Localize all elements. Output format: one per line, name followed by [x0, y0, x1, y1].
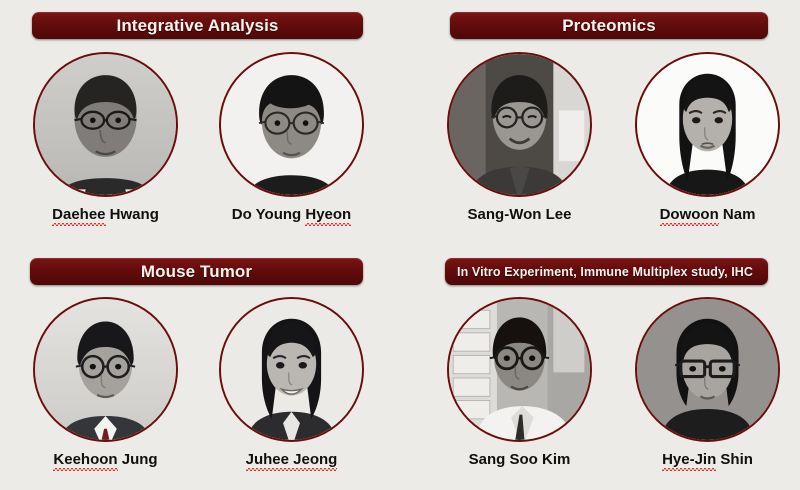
person-card[interactable]: Sang Soo Kim — [447, 297, 592, 468]
group-banner-in-vitro-immune-ihc: In Vitro Experiment, Immune Multiplex st… — [445, 258, 768, 285]
group-proteomics: Proteomics — [418, 0, 800, 245]
person-name-rest: Do Young — [232, 206, 306, 223]
avatar — [33, 297, 178, 442]
photo-daehee-hwang — [35, 54, 176, 195]
person-name: Hye-Jin Shin — [662, 451, 753, 468]
person-name: Sang Soo Kim — [469, 451, 571, 468]
person-name: Sang-Won Lee — [468, 206, 572, 223]
group-integrative-analysis: Integrative Analysis — [0, 0, 400, 245]
person-card[interactable]: Do Young Hyeon — [219, 52, 364, 223]
group-banner-proteomics: Proteomics — [450, 12, 768, 39]
banner-label: Integrative Analysis — [117, 16, 279, 36]
person-name-rest: Sang Soo Kim — [469, 451, 571, 468]
person-name-rest: Jung — [118, 451, 158, 468]
people-row: Keehoon Jung — [0, 297, 433, 468]
person-card[interactable]: Daehee Hwang — [33, 52, 178, 223]
avatar — [447, 52, 592, 197]
banner-label: Mouse Tumor — [141, 262, 252, 282]
avatar — [447, 297, 592, 442]
person-name-flagged: Juhee Jeong — [246, 451, 338, 468]
person-name-rest: Nam — [719, 206, 756, 223]
avatar — [219, 52, 364, 197]
banner-label: In Vitro Experiment, Immune Multiplex st… — [457, 265, 753, 279]
people-row: Daehee Hwang — [0, 52, 433, 223]
person-card[interactable]: Keehoon Jung — [33, 297, 178, 468]
person-name: Daehee Hwang — [52, 206, 159, 223]
person-card[interactable]: Sang-Won Lee — [447, 52, 592, 223]
person-name: Juhee Jeong — [246, 451, 338, 468]
people-row: Sang Soo Kim — [418, 297, 800, 468]
person-name-flagged: Hye-Jin — [662, 451, 716, 468]
avatar — [635, 52, 780, 197]
person-name-rest: Hwang — [106, 206, 159, 223]
person-card[interactable]: Hye-Jin Shin — [635, 297, 780, 468]
person-name: Keehoon Jung — [53, 451, 157, 468]
person-card[interactable]: Dowoon Nam — [635, 52, 780, 223]
photo-sang-won-lee — [449, 54, 590, 195]
photo-sang-soo-kim — [449, 299, 590, 440]
person-name-rest: Shin — [716, 451, 753, 468]
group-banner-mouse-tumor: Mouse Tumor — [30, 258, 363, 285]
photo-keehoon-jung — [35, 299, 176, 440]
person-name-flagged: Hyeon — [305, 206, 351, 223]
photo-do-young-hyeon — [221, 54, 362, 195]
banner-label: Proteomics — [562, 16, 656, 36]
team-slide: Integrative Analysis — [0, 0, 800, 490]
person-name: Do Young Hyeon — [232, 206, 351, 223]
group-mouse-tumor: Mouse Tumor — [0, 245, 400, 490]
group-banner-integrative-analysis: Integrative Analysis — [32, 12, 363, 39]
group-in-vitro-immune-ihc: In Vitro Experiment, Immune Multiplex st… — [418, 245, 800, 490]
avatar — [219, 297, 364, 442]
photo-juhee-jeong — [221, 299, 362, 440]
avatar — [635, 297, 780, 442]
people-row: Sang-Won Lee — [418, 52, 800, 223]
person-card[interactable]: Juhee Jeong — [219, 297, 364, 468]
photo-dowoon-nam — [637, 54, 778, 195]
person-name: Dowoon Nam — [660, 206, 756, 223]
person-name-flagged: Daehee — [52, 206, 105, 223]
person-name-rest: Sang-Won Lee — [468, 206, 572, 223]
avatar — [33, 52, 178, 197]
photo-hye-jin-shin — [637, 299, 778, 440]
person-name-flagged: Keehoon — [53, 451, 117, 468]
person-name-flagged: Dowoon — [660, 206, 719, 223]
